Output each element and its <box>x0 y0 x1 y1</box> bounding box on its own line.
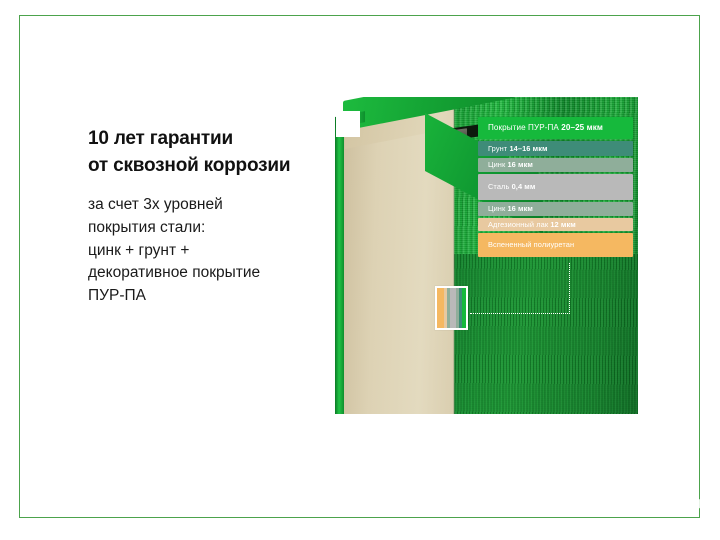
legend-layer-thickness: 16 мкм <box>507 160 533 169</box>
legend-layer-thickness: 14–16 мкм <box>509 144 547 153</box>
legend-layer-thickness: 0,4 мм <box>512 182 536 191</box>
text-column: 10 лет гарантии от сквозной коррозии за … <box>88 126 338 308</box>
swatch-stripe <box>437 288 444 328</box>
legend-layer: Вспененный полиуретан <box>478 233 633 257</box>
leader-line-vertical <box>569 263 570 314</box>
svg-text:Avito: Avito <box>655 493 702 513</box>
legend-layer: Цинк 16 мкм <box>478 202 633 216</box>
legend-layer-label: Цинк 16 мкм <box>488 161 533 168</box>
subline-line-4: декоративное покрытие <box>88 262 338 285</box>
coating-layers-legend: Покрытие ПУР-ПА 20–25 мкмГрунт 14–16 мкм… <box>478 117 633 259</box>
panel-left-edge-lip <box>335 121 344 414</box>
cross-section-swatch <box>435 286 468 330</box>
headline-line-1: 10 лет гарантии <box>88 126 338 153</box>
headline-line-2: от сквозной коррозии <box>88 153 338 180</box>
green-sheet-shadow <box>454 254 638 414</box>
legend-layer: Цинк 16 мкм <box>478 158 633 172</box>
legend-layer-thickness: 12 мкм <box>550 220 576 229</box>
legend-layer-label: Цинк 16 мкм <box>488 205 533 212</box>
subline-line-1: за счет 3х уровней <box>88 194 338 217</box>
avito-watermark: Avito <box>625 487 711 513</box>
subline-line-2: покрытия стали: <box>88 217 338 240</box>
swatch-stripe <box>462 288 466 328</box>
legend-layer: Покрытие ПУР-ПА 20–25 мкм <box>478 117 633 139</box>
legend-layer-label: Грунт 14–16 мкм <box>488 145 548 152</box>
legend-layer-thickness: 20–25 мкм <box>561 123 603 132</box>
page-subtitle: за счет 3х уровней покрытия стали: цинк … <box>88 194 338 308</box>
legend-layer-label: Сталь 0,4 мм <box>488 183 535 190</box>
legend-layer: Грунт 14–16 мкм <box>478 141 633 156</box>
legend-layer-label: Вспененный полиуретан <box>488 241 574 248</box>
legend-layer-label: Адгезионный лак 12 мкм <box>488 221 576 228</box>
legend-layer-label: Покрытие ПУР-ПА 20–25 мкм <box>488 124 603 132</box>
legend-layer-thickness: 16 мкм <box>507 204 533 213</box>
legend-layer: Сталь 0,4 мм <box>478 174 633 200</box>
subline-line-3: цинк + грунт + <box>88 240 338 263</box>
subline-line-5: ПУР-ПА <box>88 285 338 308</box>
legend-layer: Адгезионный лак 12 мкм <box>478 218 633 231</box>
leader-line-horizontal <box>470 313 570 314</box>
page-title: 10 лет гарантии от сквозной коррозии <box>88 126 338 180</box>
panel-corner-notch <box>336 111 360 137</box>
